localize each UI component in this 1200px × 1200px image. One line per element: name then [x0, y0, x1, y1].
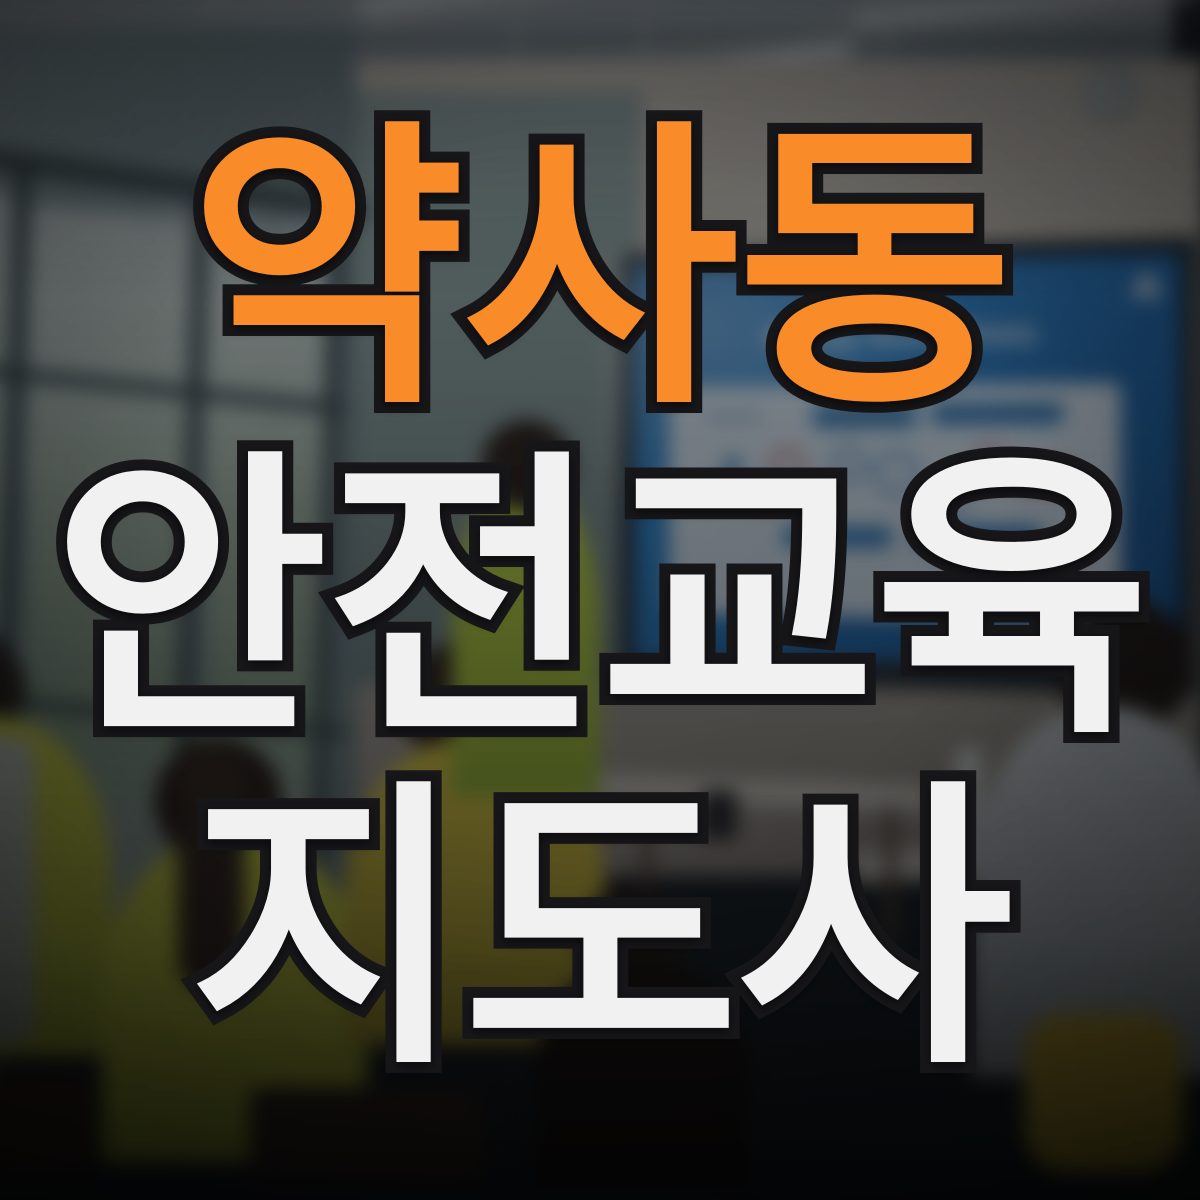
poster-canvas: Safety Guidelines: [0, 0, 1200, 1200]
vignette: [0, 0, 1200, 1200]
